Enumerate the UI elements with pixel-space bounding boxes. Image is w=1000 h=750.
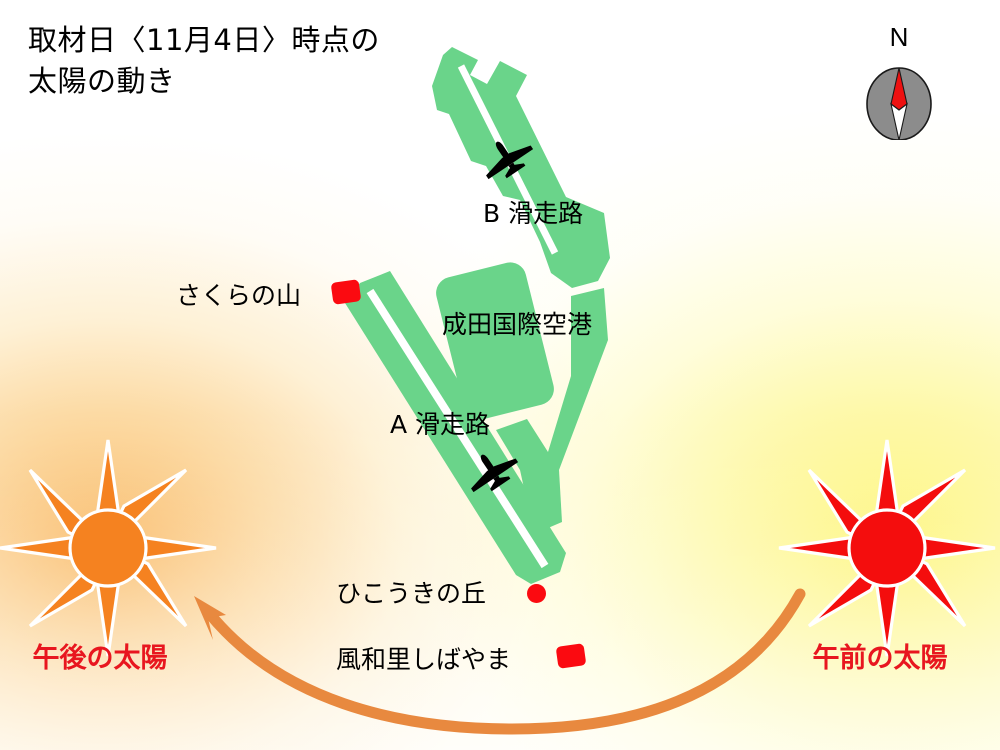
map-canvas: 取材日〈11月4日〉時点の 太陽の動き N B 滑走路 成田国際空港 A 滑走路…: [0, 0, 1000, 750]
page-title: 取材日〈11月4日〉時点の 太陽の動き: [28, 20, 380, 102]
sun-disc: [849, 510, 925, 586]
viewpoint-marker-fuwari: [556, 643, 587, 669]
sun-icon: [0, 428, 228, 668]
viewpoint-label-fuwari: 風和里しばやま: [336, 640, 511, 676]
compass-rose: N: [845, 22, 953, 140]
viewpoint-marker-hikouki: [527, 584, 546, 603]
sun-icon: [767, 428, 1000, 668]
afternoon-sun-caption: 午後の太陽: [0, 636, 230, 675]
airport-name-label: 成田国際空港: [442, 305, 592, 341]
runway-a-label: A 滑走路: [390, 405, 490, 441]
morning-sun-caption: 午前の太陽: [750, 636, 1000, 675]
afternoon-sun: [0, 428, 228, 668]
compass-north-label: N: [845, 22, 953, 53]
runway-b-label: B 滑走路: [483, 194, 583, 230]
viewpoint-label-hikouki: ひこうきの丘: [336, 574, 486, 610]
sun-disc: [70, 510, 146, 586]
morning-sun: [767, 428, 1000, 668]
viewpoint-marker-sakura: [331, 279, 362, 305]
viewpoint-label-sakura: さくらの山: [176, 276, 301, 312]
